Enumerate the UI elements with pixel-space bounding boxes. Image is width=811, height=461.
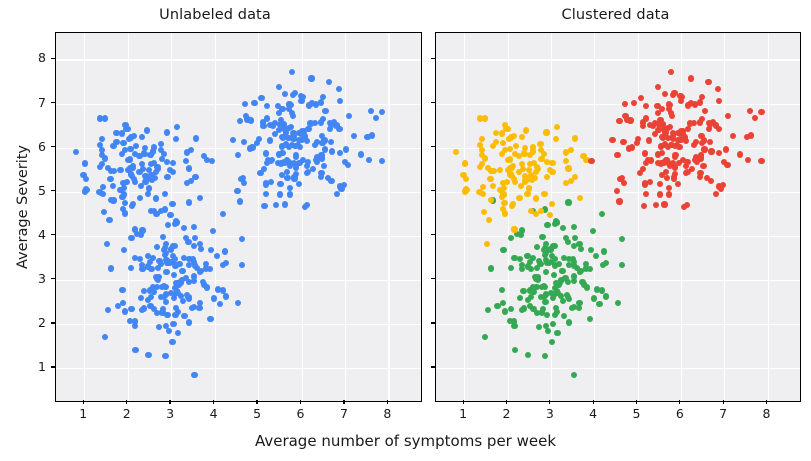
scatter-point [508, 306, 514, 312]
scatter-point [730, 133, 736, 139]
scatter-point [508, 265, 514, 271]
scatter-point [708, 178, 714, 184]
scatter-point [156, 258, 162, 264]
scatter-point [490, 183, 496, 189]
scatter-point [183, 158, 189, 164]
x-tick-mark [169, 400, 170, 404]
y-tick-label: 4 [22, 228, 46, 242]
scatter-point [282, 201, 288, 207]
scatter-point [657, 181, 663, 187]
x-tick-label: 3 [538, 407, 562, 421]
scatter-point [588, 247, 594, 253]
scatter-point [685, 126, 691, 132]
scatter-point [267, 122, 273, 128]
scatter-point [321, 137, 327, 143]
scatter-point [638, 95, 644, 101]
scatter-point [119, 287, 125, 293]
scatter-point [104, 241, 110, 247]
scatter-point [120, 140, 126, 146]
scatter-point [752, 115, 758, 121]
scatter-point [688, 75, 694, 81]
scatter-plot-unlabeled[interactable] [55, 32, 422, 402]
scatter-point [144, 177, 150, 183]
scatter-point [191, 273, 197, 279]
x-tick-mark [387, 400, 388, 404]
scatter-point [668, 69, 674, 75]
scatter-point [641, 203, 647, 209]
scatter-point [697, 99, 703, 105]
scatter-point [318, 174, 324, 180]
scatter-point [530, 148, 536, 154]
scatter-point [154, 244, 160, 250]
scatter-point [125, 167, 131, 173]
scatter-point [321, 163, 327, 169]
x-axis-label: Average number of symptoms per week [0, 431, 811, 451]
scatter-point [188, 147, 194, 153]
scatter-point [565, 165, 571, 171]
scatter-point [235, 300, 241, 306]
scatter-point [331, 119, 337, 125]
y-tick-mark [51, 322, 55, 323]
scatter-point [499, 287, 505, 293]
scatter-point [680, 157, 686, 163]
y-tick-mark [431, 278, 435, 279]
scatter-point [676, 144, 682, 150]
scatter-point [198, 268, 204, 274]
scatter-point [626, 145, 632, 151]
scatter-point [519, 134, 525, 140]
scatter-point [153, 195, 159, 201]
scatter-point [279, 150, 285, 156]
scatter-point [128, 306, 134, 312]
y-tick-label: 2 [22, 316, 46, 330]
scatter-point [568, 147, 574, 153]
scatter-point [702, 108, 708, 114]
scatter-point [172, 221, 178, 227]
scatter-point [237, 198, 243, 204]
scatter-point [107, 176, 113, 182]
scatter-point [549, 339, 555, 345]
scatter-point [305, 126, 311, 132]
y-tick-mark [431, 146, 435, 147]
scatter-point [660, 134, 666, 140]
scatter-point [366, 157, 372, 163]
scatter-point [127, 146, 133, 152]
scatter-point [683, 170, 689, 176]
y-tick-mark [51, 58, 55, 59]
y-tick-mark [431, 366, 435, 367]
y-tick-mark [431, 190, 435, 191]
scatter-point [145, 191, 151, 197]
scatter-point [223, 293, 229, 299]
scatter-point [170, 160, 176, 166]
scatter-point [80, 172, 86, 178]
scatter-point [110, 183, 116, 189]
x-tick-label: 1 [451, 407, 475, 421]
scatter-point [635, 136, 641, 142]
scatter-point [661, 201, 667, 207]
scatter-point [665, 144, 671, 150]
scatter-point [223, 260, 229, 266]
scatter-point [563, 180, 569, 186]
scatter-point [215, 286, 221, 292]
scatter-point [603, 260, 609, 266]
gridline-vertical [464, 33, 465, 401]
scatter-point [322, 108, 328, 114]
gridline-horizontal [436, 280, 800, 281]
x-tick-mark [126, 400, 127, 404]
scatter-point [619, 262, 625, 268]
scatter-point [576, 305, 582, 311]
scatter-point [172, 243, 178, 249]
scatter-point [248, 117, 254, 123]
scatter-point [329, 148, 335, 154]
scatter-point [614, 188, 620, 194]
gridline-vertical [215, 33, 216, 401]
scatter-point [189, 305, 195, 311]
scatter-point [620, 139, 626, 145]
scatter-point [97, 164, 103, 170]
scatter-point [345, 162, 351, 168]
gridline-horizontal [56, 280, 421, 281]
scatter-point [657, 191, 663, 197]
scatter-point [192, 235, 198, 241]
scatter-point [716, 183, 722, 189]
scatter-point [534, 265, 540, 271]
scatter-point [500, 140, 506, 146]
scatter-point [242, 101, 248, 107]
scatter-point [758, 158, 764, 164]
scatter-point [619, 236, 625, 242]
scatter-point [493, 139, 499, 145]
scatter-point [655, 84, 661, 90]
gridline-horizontal [436, 59, 800, 60]
scatter-point [552, 221, 558, 227]
gridline-horizontal [56, 368, 421, 369]
scatter-point [181, 225, 187, 231]
scatter-point [504, 179, 510, 185]
gridline-horizontal [56, 104, 421, 105]
gridline-vertical [681, 33, 682, 401]
scatter-point [139, 134, 145, 140]
x-tick-label: 5 [625, 407, 649, 421]
scatter-point [500, 247, 506, 253]
scatter-point [368, 108, 374, 114]
scatter-point [214, 253, 220, 259]
scatter-point [559, 268, 565, 274]
gridline-vertical [638, 33, 639, 401]
scatter-point [155, 274, 161, 280]
scatter-point [566, 319, 572, 325]
scatter-point [713, 191, 719, 197]
scatter-point [537, 141, 543, 147]
scatter-point [334, 191, 340, 197]
scatter-point [320, 116, 326, 122]
scatter-point [132, 347, 138, 353]
scatter-point [758, 109, 764, 115]
scatter-point [287, 185, 293, 191]
gridline-vertical [594, 33, 595, 401]
scatter-point [102, 156, 108, 162]
gridline-vertical [302, 33, 303, 401]
scatter-point [148, 161, 154, 167]
scatter-point [260, 123, 266, 129]
panel-title-clustered: Clustered data [430, 6, 801, 24]
scatter-point [536, 324, 542, 330]
scatter-point [129, 203, 135, 209]
scatter-point [132, 323, 138, 329]
scatter-point [158, 141, 164, 147]
scatter-point [139, 266, 145, 272]
x-tick-mark [679, 400, 680, 404]
scatter-point [163, 269, 169, 275]
scatter-point [541, 191, 547, 197]
scatter-point [180, 268, 186, 274]
scatter-point [211, 295, 217, 301]
scatter-point [587, 316, 593, 322]
x-tick-label: 8 [375, 407, 399, 421]
scatter-point [539, 234, 545, 240]
x-tick-label: 4 [202, 407, 226, 421]
scatter-point [525, 352, 531, 358]
scatter-point [343, 146, 349, 152]
scatter-point [267, 137, 273, 143]
scatter-point [280, 134, 286, 140]
scatter-point [318, 99, 324, 105]
scatter-point [487, 176, 493, 182]
scatter-point [506, 136, 512, 142]
scatter-point [151, 306, 157, 312]
scatter-point [560, 225, 566, 231]
scatter-point [705, 79, 711, 85]
scatter-point [579, 279, 585, 285]
scatter-point [659, 106, 665, 112]
scatter-point [544, 222, 550, 228]
scatter-point [263, 191, 269, 197]
scatter-point [346, 113, 352, 119]
scatter-point [162, 191, 168, 197]
scatter-point [666, 185, 672, 191]
scatter-point [511, 323, 517, 329]
scatter-point [310, 166, 316, 172]
scatter-point [314, 139, 320, 145]
scatter-point [97, 115, 103, 121]
y-tick-mark [431, 322, 435, 323]
scatter-point [113, 130, 119, 136]
y-tick-label: 8 [22, 51, 46, 65]
scatter-point [132, 255, 138, 261]
scatter-point [156, 324, 162, 330]
scatter-point [477, 164, 483, 170]
x-tick-mark [636, 400, 637, 404]
scatter-point [337, 183, 343, 189]
scatter-point [700, 163, 706, 169]
scatter-point [744, 134, 750, 140]
scatter-point [186, 165, 192, 171]
scatter-point [617, 176, 623, 182]
scatter-point [96, 189, 102, 195]
y-tick-mark [51, 190, 55, 191]
scatter-point [670, 136, 676, 142]
scatter-point [379, 109, 385, 115]
scatter-point [627, 117, 633, 123]
scatter-point [261, 203, 267, 209]
scatter-point [551, 291, 557, 297]
scatter-point [511, 255, 517, 261]
scatter-point [145, 263, 151, 269]
y-tick-mark [51, 366, 55, 367]
scatter-point [462, 160, 468, 166]
scatter-point [687, 120, 693, 126]
x-tick-label: 5 [245, 407, 269, 421]
scatter-point [572, 135, 578, 141]
scatter-point [153, 211, 159, 217]
scatter-point [237, 118, 243, 124]
scatter-point [571, 224, 577, 230]
scatter-point [105, 165, 111, 171]
scatter-point [672, 171, 678, 177]
y-tick-mark [431, 102, 435, 103]
gridline-vertical [768, 33, 769, 401]
y-tick-label: 6 [22, 140, 46, 154]
scatter-point [616, 198, 622, 204]
x-tick-mark [593, 400, 594, 404]
scatter-point [615, 300, 621, 306]
scatter-point [106, 217, 112, 223]
scatter-point [186, 262, 192, 268]
scatter-point [518, 183, 524, 189]
scatter-point [139, 307, 145, 313]
scatter-point [137, 195, 143, 201]
scatter-point [533, 211, 539, 217]
scatter-point [576, 241, 582, 247]
scatter-point [119, 130, 125, 136]
scatter-point [154, 164, 160, 170]
scatter-point [185, 239, 191, 245]
scatter-point [162, 353, 168, 359]
scatter-point [715, 86, 721, 92]
scatter-point [544, 312, 550, 318]
y-tick-mark [431, 58, 435, 59]
scatter-point [113, 139, 119, 145]
scatter-point [102, 334, 108, 340]
scatter-point [666, 106, 672, 112]
scatter-point [373, 115, 379, 121]
scatter-point [275, 160, 281, 166]
scatter-point [547, 167, 553, 173]
scatter-point [477, 115, 483, 121]
scatter-point [172, 262, 178, 268]
scatter-point [521, 150, 527, 156]
y-tick-mark [51, 278, 55, 279]
scatter-point [640, 166, 646, 172]
scatter-point [737, 151, 743, 157]
scatter-point [486, 217, 492, 223]
x-tick-mark [723, 400, 724, 404]
scatter-point [296, 181, 302, 187]
scatter-point [208, 247, 214, 253]
scatter-point [542, 353, 548, 359]
x-tick-label: 7 [332, 407, 356, 421]
scatter-point [220, 211, 226, 217]
scatter-point [699, 94, 705, 100]
scatter-point [591, 295, 597, 301]
scatter-point [222, 248, 228, 254]
scatter-point [647, 122, 653, 128]
scatter-point [631, 100, 637, 106]
scatter-point [698, 152, 704, 158]
scatter-point [708, 148, 714, 154]
scatter-point [277, 191, 283, 197]
scatter-point [707, 139, 713, 145]
scatter-plot-clustered[interactable] [435, 32, 801, 402]
scatter-point [105, 307, 111, 313]
x-tick-mark [506, 400, 507, 404]
scatter-point [148, 294, 154, 300]
scatter-point [561, 255, 567, 261]
scatter-point [689, 166, 695, 172]
scatter-point [747, 108, 753, 114]
scatter-point [522, 145, 528, 151]
scatter-point [298, 98, 304, 104]
scatter-point [539, 284, 545, 290]
scatter-point [672, 152, 678, 158]
scatter-point [320, 94, 326, 100]
scatter-point [144, 127, 150, 133]
gridline-vertical [258, 33, 259, 401]
scatter-point [642, 150, 648, 156]
scatter-point [544, 174, 550, 180]
x-tick-mark [300, 400, 301, 404]
scatter-point [358, 151, 364, 157]
scatter-point [710, 119, 716, 125]
scatter-point [524, 253, 530, 259]
scatter-point [500, 300, 506, 306]
scatter-point [569, 305, 575, 311]
scatter-point [519, 266, 525, 272]
gridline-vertical [724, 33, 725, 401]
scatter-point [115, 303, 121, 309]
scatter-point [141, 150, 147, 156]
scatter-point [258, 95, 264, 101]
scatter-point [351, 133, 357, 139]
scatter-point [551, 243, 557, 249]
scatter-point [488, 197, 494, 203]
scatter-point [525, 263, 531, 269]
scatter-point [499, 130, 505, 136]
scatter-point [553, 136, 559, 142]
scatter-point [117, 167, 123, 173]
scatter-point [261, 166, 267, 172]
scatter-point [174, 124, 180, 130]
x-tick-label: 4 [581, 407, 605, 421]
scatter-point [666, 191, 672, 197]
scatter-point [460, 172, 466, 178]
scatter-point [337, 98, 343, 104]
x-tick-label: 2 [495, 407, 519, 421]
scatter-point [554, 124, 560, 130]
scatter-point [124, 179, 130, 185]
scatter-point [276, 84, 282, 90]
scatter-point [117, 187, 123, 193]
figure: Unlabeled data Average Severity Clustere… [0, 0, 811, 461]
y-tick-label: 7 [22, 96, 46, 110]
scatter-point [476, 189, 482, 195]
scatter-point [642, 181, 648, 187]
scatter-point [511, 226, 517, 232]
scatter-point [508, 235, 514, 241]
scatter-point [328, 139, 334, 145]
